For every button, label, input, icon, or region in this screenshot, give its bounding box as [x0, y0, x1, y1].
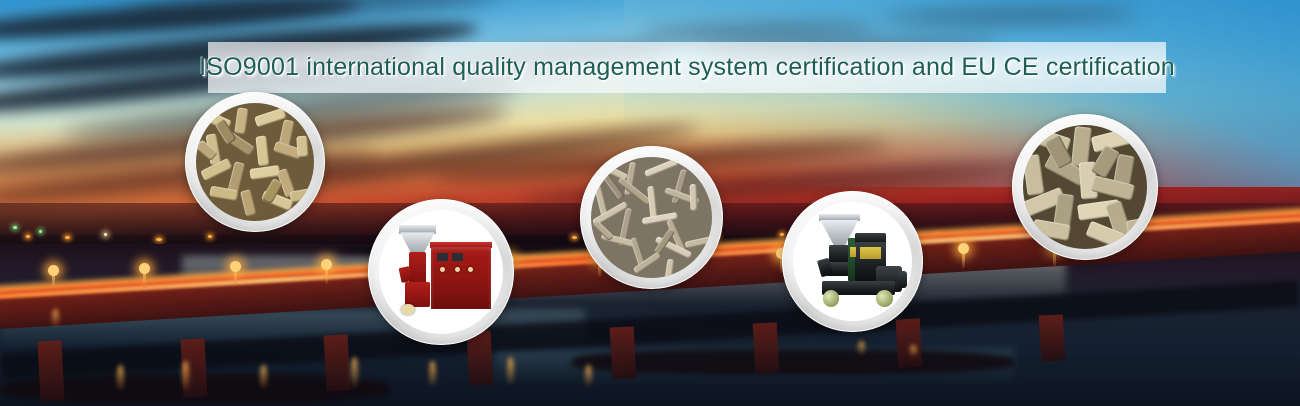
thumbnail-green-pellet-mill[interactable]	[782, 191, 923, 332]
feed-hopper	[399, 225, 436, 234]
bridge-pier	[37, 340, 64, 401]
light-reflection	[351, 357, 358, 389]
bridge-street-lamp	[962, 248, 965, 268]
thumbnail-large-wood-pellets[interactable]	[1012, 114, 1158, 260]
light-reflection	[117, 365, 124, 391]
light-reflection	[858, 341, 865, 355]
cabinet-meter	[452, 253, 463, 260]
thumbnail-image	[1023, 125, 1147, 249]
mill-base	[405, 282, 430, 307]
discharge-port	[401, 304, 415, 315]
light-reflection	[910, 345, 917, 357]
thumbnail-image	[196, 103, 314, 221]
pellet-photo-tan	[196, 103, 314, 221]
cabinet-knob	[455, 267, 460, 272]
light-reflection	[507, 357, 514, 385]
rubber-wheel	[876, 290, 893, 307]
bridge-pier	[610, 326, 637, 379]
bridge-pier	[753, 322, 780, 373]
far-shoreline	[572, 349, 1014, 375]
bridge-street-lamp	[234, 266, 237, 286]
cabinet-meter	[437, 253, 448, 260]
rubber-wheel	[823, 290, 840, 307]
light-reflection	[429, 361, 436, 387]
pellet-photo-gray	[591, 157, 712, 278]
nameplate	[860, 247, 881, 259]
thumbnail-wood-pellets-closeup[interactable]	[185, 92, 325, 232]
machine-photo-red	[379, 210, 503, 334]
promotional-banner: ISO9001 international quality management…	[0, 0, 1300, 406]
bridge-street-lamp	[143, 268, 146, 288]
bridge-pier	[1039, 314, 1065, 361]
bridge-street-lamp	[325, 264, 328, 284]
motor-fan-cowl	[898, 271, 908, 288]
light-reflection	[260, 365, 267, 389]
cabinet-knob	[440, 267, 445, 272]
headline-banner-bar: ISO9001 international quality management…	[208, 42, 1166, 93]
light-reflection	[182, 361, 189, 391]
thumbnail-image	[379, 210, 503, 334]
machine-photo-green	[793, 202, 912, 321]
thumbnail-thin-wood-pellets[interactable]	[580, 146, 723, 289]
thumbnail-image	[591, 157, 712, 278]
bridge-street-lamp	[52, 270, 55, 290]
warning-label	[850, 247, 856, 257]
bridge-pier	[896, 318, 922, 367]
page-title: ISO9001 international quality management…	[199, 53, 1175, 82]
thumbnail-red-pellet-mill[interactable]	[368, 199, 514, 345]
pellet-photo-large	[1023, 125, 1147, 249]
light-reflection	[585, 365, 592, 387]
bridge-pier	[324, 334, 351, 391]
light-reflection	[52, 309, 59, 327]
thumbnail-image	[793, 202, 912, 321]
